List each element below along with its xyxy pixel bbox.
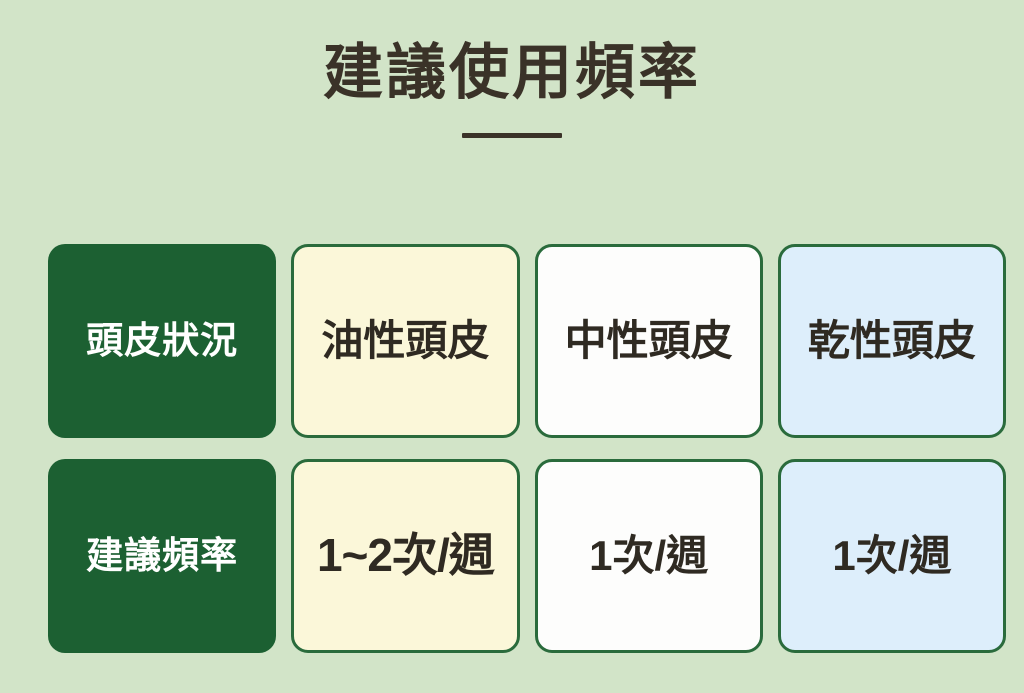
cell-text: 1~2次/週	[317, 528, 494, 583]
page-header: 建議使用頻率	[0, 0, 1024, 138]
page-title: 建議使用頻率	[0, 0, 1024, 107]
cell-text: 1次/週	[832, 531, 951, 581]
cell-text: 1次/週	[589, 531, 708, 581]
cell-text: 油性頭皮	[321, 316, 489, 366]
title-divider	[462, 133, 562, 138]
table-cell-row1-col3-normal: 中性頭皮	[535, 244, 763, 438]
table-cell-row2-col2-oily-frequency: 1~2次/週	[291, 459, 519, 653]
table-cell-row1-col2-oily: 油性頭皮	[291, 244, 519, 438]
table-cell-row1-col1-label: 頭皮狀況	[48, 244, 276, 438]
table-cell-row2-col4-dry-frequency: 1次/週	[778, 459, 1006, 653]
cell-text: 乾性頭皮	[808, 316, 976, 366]
page-root: 建議使用頻率 頭皮狀況 油性頭皮 中性頭皮 乾性頭皮 建議頻率 1~2次/週 1…	[0, 0, 1024, 693]
table-cell-row2-col3-normal-frequency: 1次/週	[535, 459, 763, 653]
cell-text: 建議頻率	[86, 534, 238, 578]
table-cell-row2-col1-label: 建議頻率	[48, 459, 276, 653]
table-cell-row1-col4-dry: 乾性頭皮	[778, 244, 1006, 438]
frequency-table: 頭皮狀況 油性頭皮 中性頭皮 乾性頭皮 建議頻率 1~2次/週 1次/週 1次/…	[48, 244, 1006, 653]
cell-text: 中性頭皮	[565, 316, 733, 366]
cell-text: 頭皮狀況	[86, 319, 238, 363]
